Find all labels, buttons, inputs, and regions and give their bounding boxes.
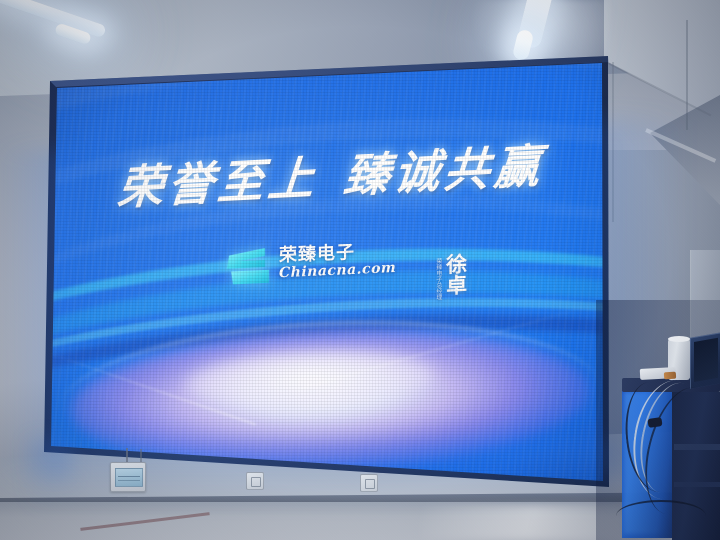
white-cylinder-speaker-top [668, 336, 690, 342]
orange-connector [664, 372, 676, 380]
screen-light-spill-left [0, 150, 70, 480]
cable-on-floor [616, 500, 706, 532]
laptop-screen [694, 338, 718, 382]
laptop[interactable] [690, 332, 720, 388]
wall-outlet-left[interactable] [246, 472, 264, 490]
wall-control-panel[interactable] [110, 462, 146, 492]
wall-outlet-right[interactable] [360, 474, 378, 492]
room-photo-scene: 荣誉至上臻诚共赢 [0, 0, 720, 540]
wall-control-panel-screen [115, 468, 143, 487]
